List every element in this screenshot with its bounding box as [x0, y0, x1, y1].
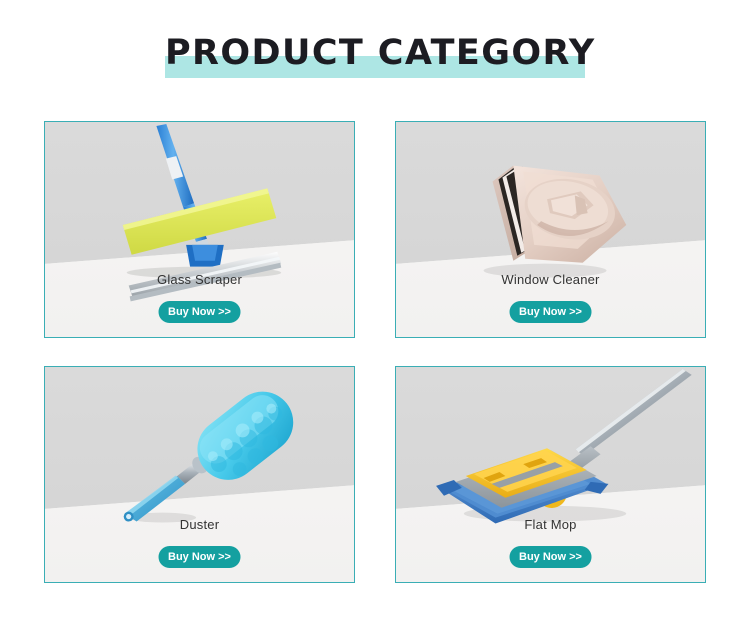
buy-now-button[interactable]: Buy Now >>	[509, 546, 592, 568]
page-title: PRODUCT CATEGORY	[165, 28, 585, 80]
product-card-window-cleaner[interactable]: Window Cleaner Buy Now >>	[395, 121, 706, 338]
buy-now-button[interactable]: Buy Now >>	[158, 546, 241, 568]
product-name: Flat Mop	[396, 517, 705, 532]
product-category-grid: Glass Scraper Buy Now >>	[44, 121, 706, 584]
product-card-flat-mop[interactable]: Flat Mop Buy Now >>	[395, 366, 706, 583]
product-card-duster[interactable]: Duster Buy Now >>	[44, 366, 355, 583]
product-card-glass-scraper[interactable]: Glass Scraper Buy Now >>	[44, 121, 355, 338]
page-header: PRODUCT CATEGORY	[0, 0, 750, 100]
buy-now-button[interactable]: Buy Now >>	[509, 301, 592, 323]
product-name: Duster	[45, 517, 354, 532]
buy-now-button[interactable]: Buy Now >>	[158, 301, 241, 323]
product-name: Glass Scraper	[45, 272, 354, 287]
product-name: Window Cleaner	[396, 272, 705, 287]
page-title-label: PRODUCT CATEGORY	[165, 28, 585, 80]
